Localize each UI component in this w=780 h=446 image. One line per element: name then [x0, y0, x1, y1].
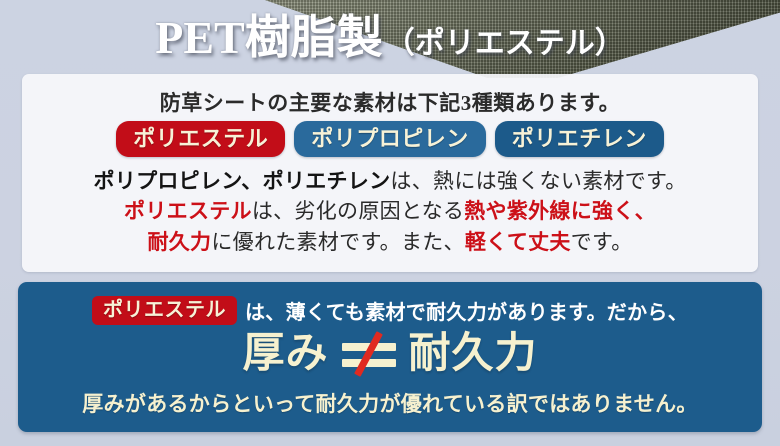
body-line-2-seg-2: は、劣化の原因となる	[252, 199, 464, 223]
conclusion-lead-row: ポリエステル は、薄くても素材で耐久力があります。だから、	[18, 296, 762, 325]
material-pill-polypropylene[interactable]: ポリプロピレン	[294, 121, 486, 157]
material-pill-polyethylene[interactable]: ポリエチレン	[495, 121, 664, 157]
page-title-main: PET樹脂製	[155, 15, 382, 61]
body-line-1: ポリプロピレン、ポリエチレンは、熱には強くない素材です。	[22, 166, 758, 196]
body-line-3-seg-2: に優れた素材です。また、	[211, 230, 465, 254]
material-pill-row: ポリエステル ポリプロピレン ポリエチレン	[22, 121, 758, 157]
body-line-2-seg-1: ポリエステル	[124, 199, 252, 223]
body-line-1-seg-1: ポリプロピレン、ポリエチレン	[93, 169, 390, 193]
body-line-3-seg-3: 軽くて丈夫	[465, 230, 571, 254]
infographic-root: PET樹脂製 （ポリエステル） 防草シートの主要な素材は下記3種類あります。 ポ…	[0, 0, 780, 446]
conclusion-lead-text: は、薄くても素材で耐久力があります。だから、	[245, 296, 688, 325]
not-equals-icon	[342, 332, 396, 374]
materials-panel: 防草シートの主要な素材は下記3種類あります。 ポリエステル ポリプロピレン ポリ…	[22, 74, 758, 272]
formula-left-term: 厚み	[242, 332, 328, 374]
body-line-3-seg-4: です。	[571, 230, 633, 254]
materials-body-text: ポリプロピレン、ポリエチレンは、熱には強くない素材です。 ポリエステルは、劣化の…	[22, 166, 758, 257]
page-title-subtitle: （ポリエステル）	[385, 29, 625, 59]
header: PET樹脂製 （ポリエステル）	[0, 0, 780, 76]
body-line-3: 耐久力に優れた素材です。また、軽くて丈夫です。	[22, 227, 758, 257]
body-line-3-seg-1: 耐久力	[147, 230, 211, 254]
formula-row: 厚み 耐久力	[18, 332, 762, 374]
body-line-2-seg-3: 熱や紫外線に強く、	[464, 199, 656, 223]
not-equals-slash	[354, 331, 383, 377]
materials-lead-text: 防草シートの主要な素材は下記3種類あります。	[22, 87, 758, 117]
conclusion-panel: ポリエステル は、薄くても素材で耐久力があります。だから、 厚み 耐久力 厚みが…	[18, 282, 762, 432]
formula-right-term: 耐久力	[409, 332, 538, 374]
body-line-1-seg-2: は、熱には強くない素材です。	[390, 169, 686, 193]
material-pill-polyester[interactable]: ポリエステル	[116, 121, 285, 157]
page-title: PET樹脂製 （ポリエステル）	[155, 15, 624, 61]
conclusion-badge-polyester[interactable]: ポリエステル	[92, 296, 237, 325]
conclusion-footer-text: 厚みがあるからといって耐久力が優れている訳ではありません。	[18, 388, 762, 418]
body-line-2: ポリエステルは、劣化の原因となる熱や紫外線に強く、	[22, 196, 758, 226]
